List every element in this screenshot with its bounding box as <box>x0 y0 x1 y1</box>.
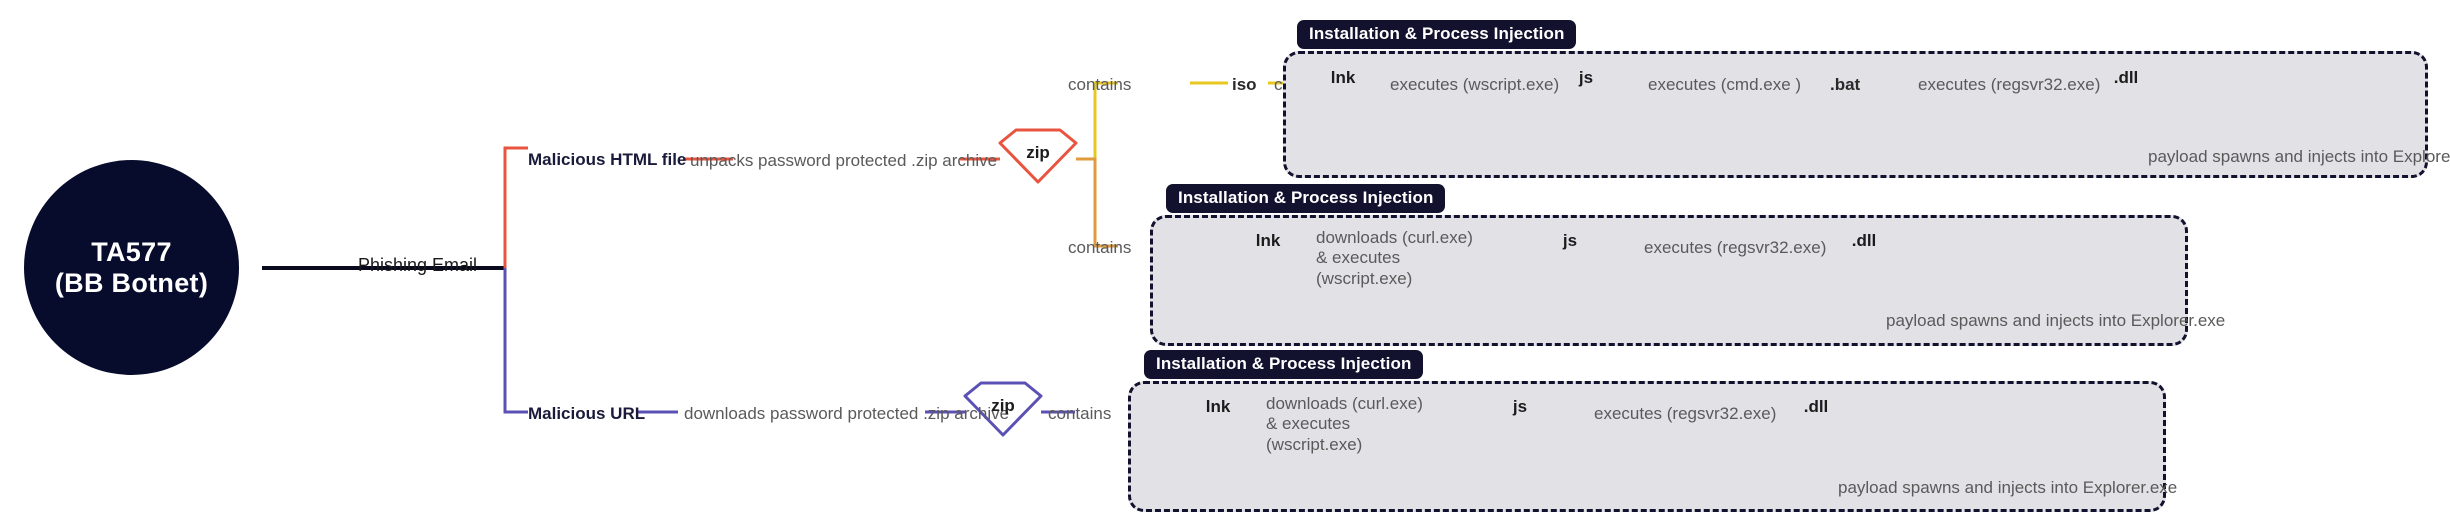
node-js-orange-label: js <box>1563 231 1577 251</box>
edge-label-downloads-curl-url: downloads (curl.exe) & executes (wscript… <box>1266 394 1436 455</box>
node-zip-url[interactable]: zip <box>965 383 1041 435</box>
node-bat-iso[interactable]: .bat <box>1830 75 1860 95</box>
node-lnk-url-label: lnk <box>1206 397 1231 417</box>
root-node-label-line2: (BB Botnet) <box>55 268 208 299</box>
node-dll-url[interactable]: .dll <box>1778 384 1854 436</box>
node-dll-iso[interactable]: .dll <box>2088 55 2164 107</box>
node-lnk-iso-label: lnk <box>1331 68 1356 88</box>
group-title-url-chain: Installation & Process Injection <box>1144 350 1423 379</box>
node-js-url-label: js <box>1513 397 1527 417</box>
edge-label-executes-cmd-iso: executes (cmd.exe ) <box>1648 75 1801 95</box>
node-js-iso[interactable]: js <box>1548 55 1624 107</box>
node-lnk-iso[interactable]: lnk <box>1305 55 1381 107</box>
branch-label-malicious-html-file[interactable]: Malicious HTML file <box>528 150 686 170</box>
edge-label-downloads-zip: downloads password protected .zip archiv… <box>684 404 1009 424</box>
group-title-iso-chain: Installation & Process Injection <box>1297 20 1576 49</box>
edge-label-executes-wscript-iso: executes (wscript.exe) <box>1390 75 1559 95</box>
node-js-orange[interactable]: js <box>1532 218 1608 270</box>
edge-label-url-contains: contains <box>1048 404 1111 424</box>
node-js-iso-label: js <box>1579 68 1593 88</box>
node-zip-url-label: zip <box>991 396 1015 416</box>
edge-label-executes-regsvr32-orange: executes (regsvr32.exe) <box>1644 238 1826 258</box>
root-node-ta577[interactable]: TA577 (BB Botnet) <box>24 160 239 375</box>
payload-label-orange: payload spawns and injects into Explorer… <box>1886 311 2225 331</box>
group-title-lnk-chain: Installation & Process Injection <box>1166 184 1445 213</box>
edge-label-unpacks-zip: unpacks password protected .zip archive <box>690 151 997 171</box>
diagram-canvas: TA577 (BB Botnet) Phishing Email Malicio… <box>0 0 2450 531</box>
payload-label-iso: payload spawns and injects into Explorer… <box>2148 147 2450 167</box>
node-js-url[interactable]: js <box>1482 384 1558 436</box>
trunk-label-phishing-email: Phishing Email <box>358 255 477 276</box>
node-dll-url-label: .dll <box>1804 397 1829 417</box>
branch-label-malicious-url[interactable]: Malicious URL <box>528 404 645 424</box>
edge-label-iso-contains-a: contains <box>1068 75 1131 95</box>
edge-label-downloads-curl-orange: downloads (curl.exe) & executes (wscript… <box>1316 228 1486 289</box>
node-lnk-url[interactable]: lnk <box>1180 384 1256 436</box>
root-node-label-line1: TA577 <box>91 237 172 268</box>
node-lnk-orange-label: lnk <box>1256 231 1281 251</box>
node-zip-html-label: zip <box>1026 143 1050 163</box>
node-lnk-orange[interactable]: lnk <box>1230 218 1306 270</box>
node-dll-orange-label: .dll <box>1852 231 1877 251</box>
node-dll-orange[interactable]: .dll <box>1826 218 1902 270</box>
node-iso[interactable]: iso <box>1232 75 1257 95</box>
payload-label-url: payload spawns and injects into Explorer… <box>1838 478 2177 498</box>
edge-label-executes-regsvr32-iso: executes (regsvr32.exe) <box>1918 75 2100 95</box>
edge-label-executes-regsvr32-url: executes (regsvr32.exe) <box>1594 404 1776 424</box>
edge-label-lnk-contains: contains <box>1068 238 1131 258</box>
node-dll-iso-label: .dll <box>2114 68 2139 88</box>
node-zip-html[interactable]: zip <box>1000 130 1076 182</box>
